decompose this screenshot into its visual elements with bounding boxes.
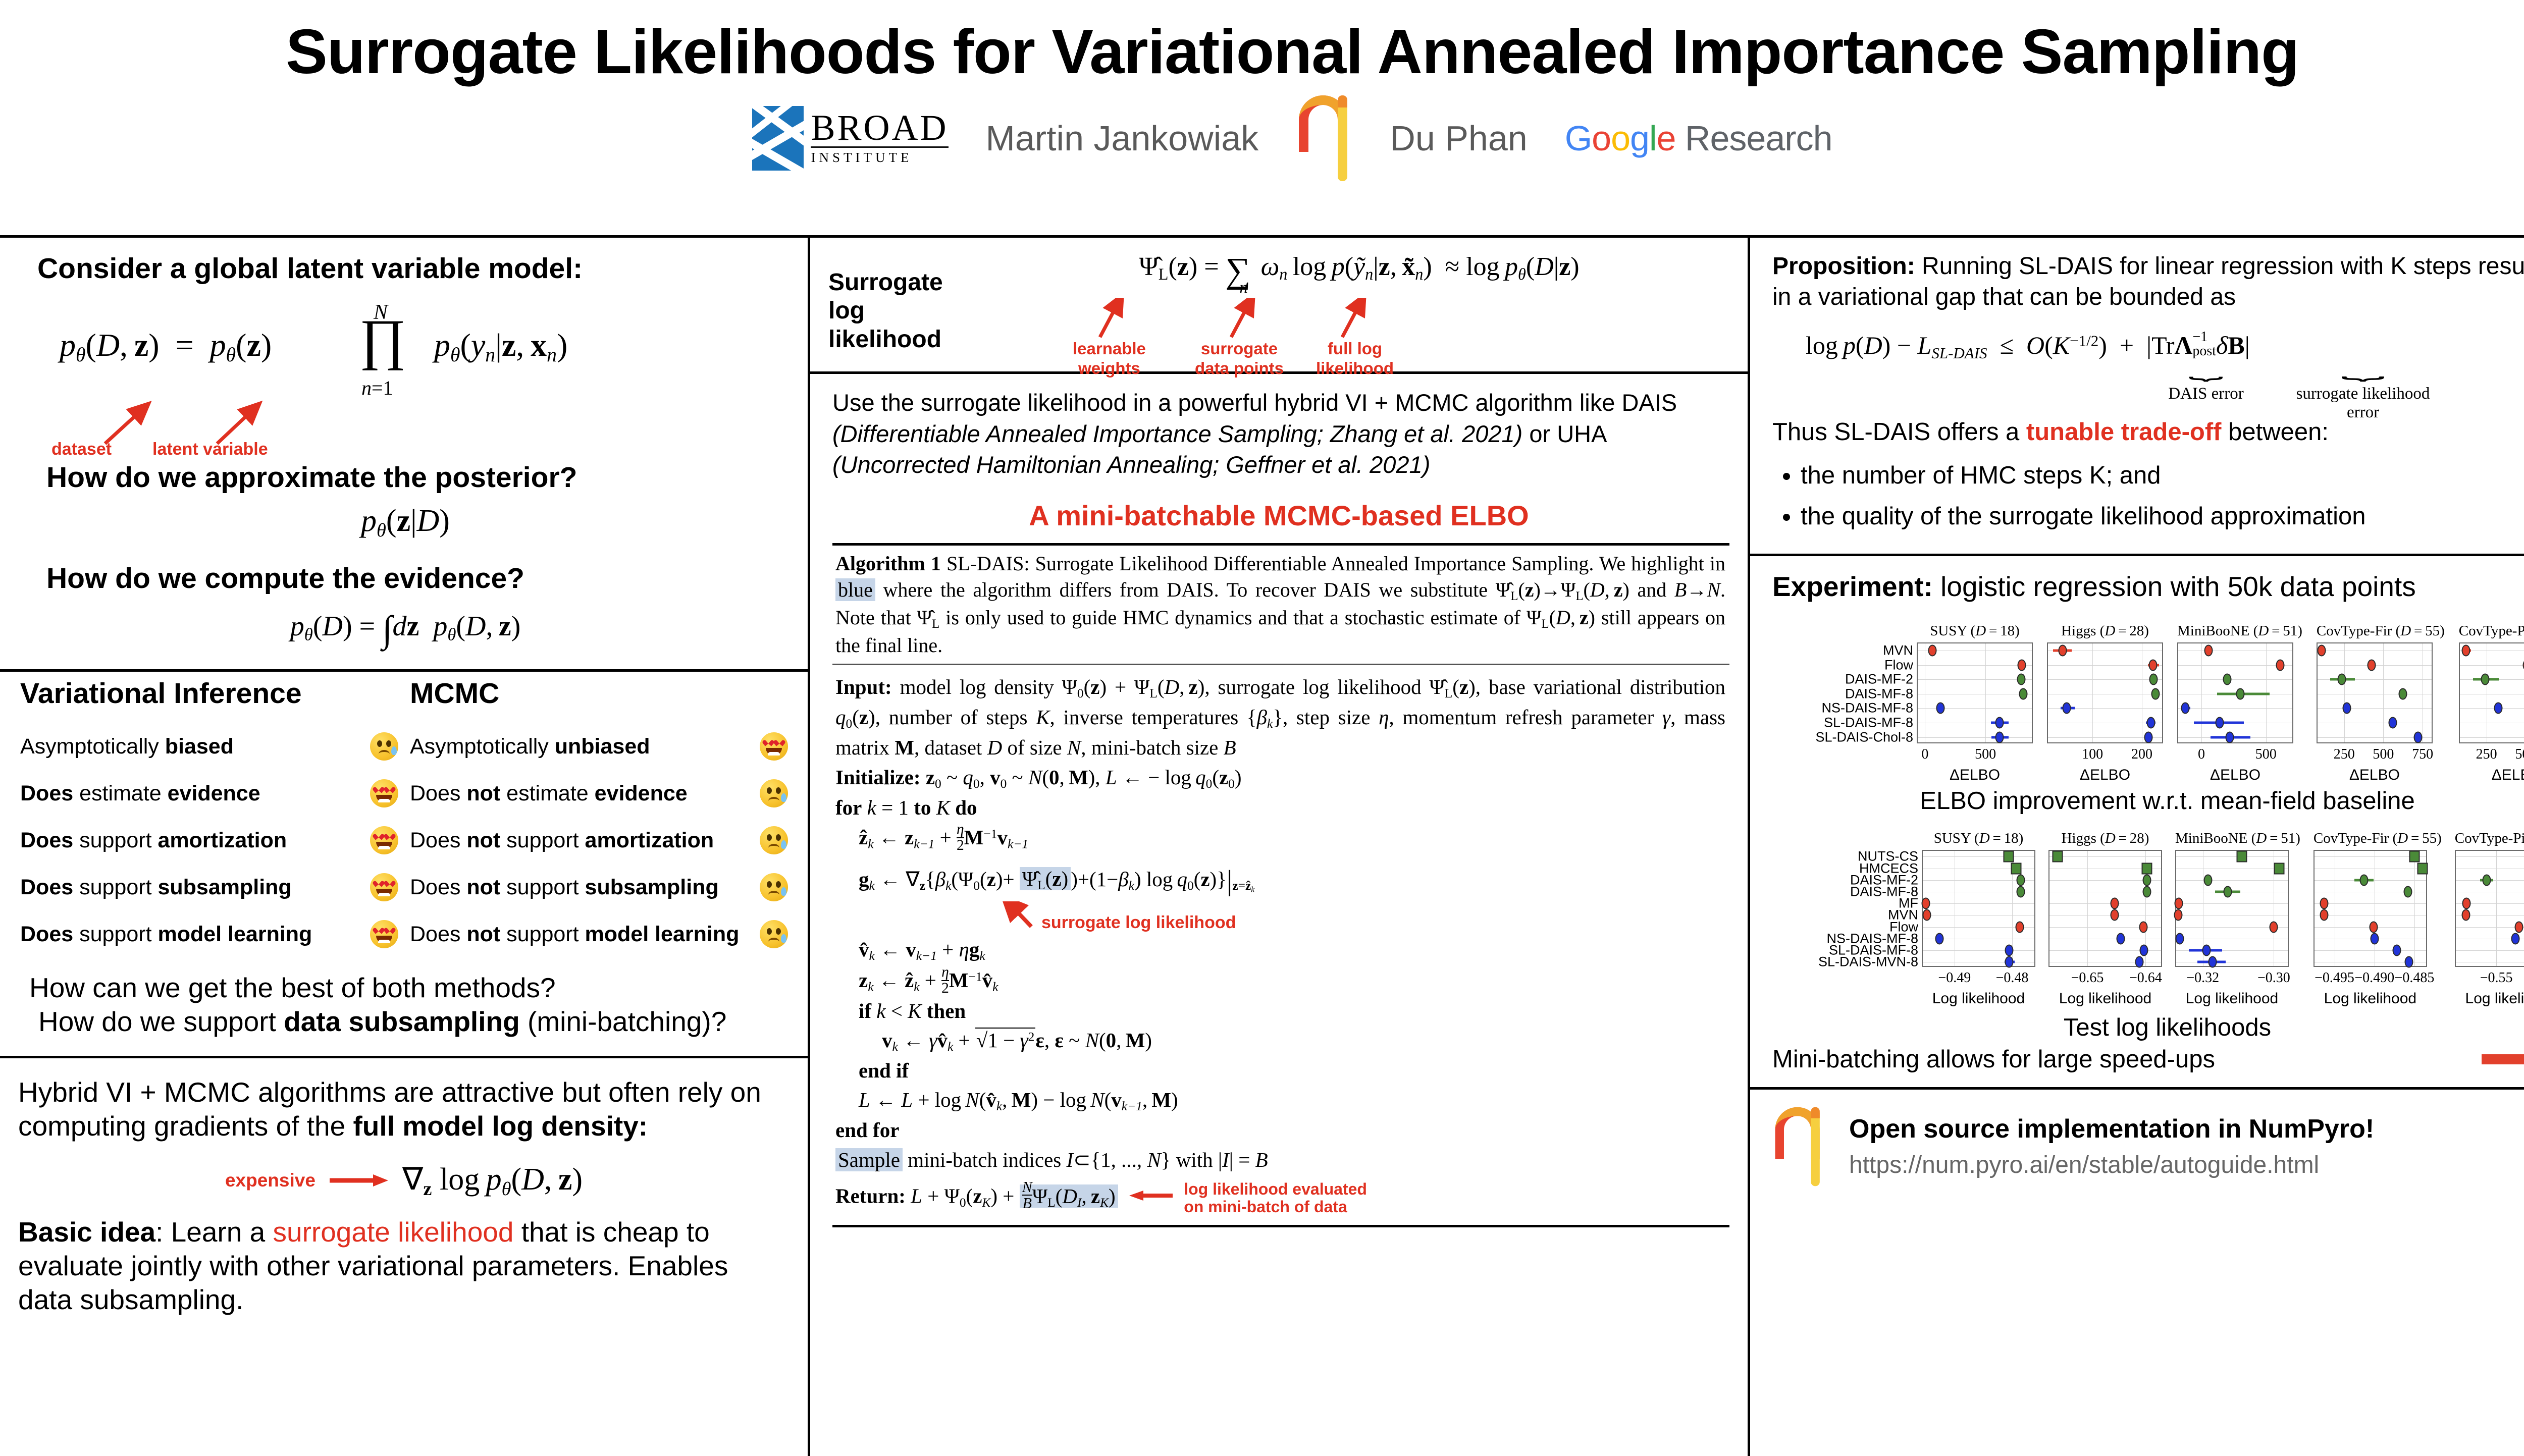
- numpyro-title: Open source implementation in NumPyro!: [1849, 1114, 2374, 1144]
- vi-row-label: Does estimate evidence: [20, 781, 365, 806]
- basic-idea-paragraph: Basic idea: Learn a surrogate likelihood…: [0, 1200, 808, 1317]
- column-middle: Surrogate log likelihood Ψ̂L(z) = ∑n ωn …: [808, 238, 1748, 1456]
- chart-dot-marker: [2135, 956, 2143, 968]
- caption-test-log-likelihoods: Test log likelihoods: [1750, 1013, 2524, 1042]
- chart-x-axis-label: ΔELBO: [2460, 767, 2524, 784]
- chart-gridline-h: [2048, 694, 2162, 694]
- algo-line-if: if k < K then: [835, 996, 1725, 1026]
- heart-eyes-face-icon: [365, 779, 403, 807]
- tradeoff-bullet-2: the quality of the surrogate likelihood …: [1801, 498, 2524, 535]
- chart-panel: MiniBooNE (D = 51)0500ΔELBO: [2177, 623, 2302, 743]
- chart-x-tick-label: 500: [2373, 746, 2394, 763]
- chart-dot-marker: [2176, 933, 2184, 944]
- chart-dot-marker: [2059, 645, 2067, 657]
- chart-panel: CovType-Pine (D = 55)−0.55−0.54Log likel…: [2455, 830, 2524, 967]
- vi-column: Variational Inference Asymptotically bia…: [20, 677, 403, 958]
- chart-gridline-h: [2315, 915, 2426, 915]
- algo-line-z: zk ← ẑk + η2M−1v̂k: [835, 965, 1725, 996]
- chart-dot-marker: [2111, 898, 2119, 909]
- chart-panel-title: MiniBooNE (D = 51): [2177, 623, 2302, 639]
- chart-square-marker: [2417, 862, 2428, 874]
- chart-y-tick-label: Flow: [1884, 657, 1913, 673]
- chart-gridline-h: [2456, 856, 2524, 857]
- return-annotation-arrow: [1128, 1190, 1174, 1201]
- chart-gridline-h: [2176, 856, 2288, 857]
- chart-dot-marker: [2202, 945, 2211, 956]
- annotation-surrogate-data-points: surrogate data points: [1195, 339, 1284, 378]
- chart-dot-marker: [2139, 921, 2147, 933]
- mcmc-row: Does not estimate evidence: [410, 770, 793, 817]
- chart-x-tick-label: −0.490: [2354, 970, 2394, 986]
- annotation-minibatch-likelihood: log likelihood evaluated on mini-batch o…: [1184, 1180, 1367, 1216]
- proposition-paragraph: Proposition: Running SL-DAIS for linear …: [1772, 251, 2524, 313]
- chart-dot-marker: [2320, 909, 2328, 921]
- chart-dot-marker: [2393, 945, 2401, 956]
- chart-y-tick-label: SL-DAIS-MF-8: [1824, 715, 1913, 731]
- google-letter-o2: o: [1611, 119, 1630, 158]
- sad-face-icon: [755, 826, 793, 854]
- sad-face-icon: [365, 732, 403, 761]
- chart-gridline-h: [2460, 737, 2524, 738]
- algo-line-zhat: ẑk ← zk−1 + η2M−1vk−1: [835, 822, 1725, 853]
- chart-panel-title: CovType-Pine (D = 55): [2459, 623, 2524, 639]
- vi-row: Does support model learning: [20, 911, 403, 958]
- chart-panel: CovType-Pine (D = 55)250500750ΔELBO: [2459, 623, 2524, 743]
- sad-face-icon: [755, 779, 793, 807]
- chart-plot-area: −0.65−0.64Log likelihood: [2048, 850, 2162, 967]
- chart-square-marker: [2141, 862, 2152, 874]
- surrogate-ll-label: Surrogate log likelihood: [828, 268, 980, 354]
- mcmc-row: Does not support subsampling: [410, 864, 793, 911]
- column-right: Proposition: Running SL-DAIS for linear …: [1748, 238, 2524, 1456]
- chart-gridline-h: [2048, 723, 2162, 723]
- chart-dot-marker: [2019, 688, 2027, 699]
- chart-dot-marker: [2515, 921, 2523, 933]
- numpyro-footer: Open source implementation in NumPyro! h…: [1750, 1090, 2524, 1190]
- chart-panel-title: MiniBooNE (D = 51): [2175, 830, 2300, 847]
- use-surrogate-paragraph: Use the surrogate likelihood in a powerf…: [810, 374, 1748, 479]
- chart-dot-marker: [2149, 659, 2158, 671]
- chart-dot-marker: [2017, 674, 2025, 685]
- divider-left-1: [0, 669, 808, 672]
- chart-dot-marker: [2368, 659, 2376, 671]
- pyro-logo-footer-icon: [1772, 1107, 1824, 1186]
- algo-line-sample: Sample mini-batch indices I⊂{1, ..., N} …: [835, 1145, 1725, 1174]
- question-best-of-both: How can we get the best of both methods?: [29, 971, 787, 1005]
- annotation-dataset: dataset: [51, 440, 112, 459]
- chart-panel-title: CovType-Fir (D = 55): [2313, 830, 2442, 847]
- chart-gridline-h: [2315, 869, 2426, 869]
- chart-dot-marker: [2146, 717, 2155, 729]
- chart-gridline-v: [2087, 851, 2088, 966]
- chart-x-tick-label: 200: [2131, 746, 2152, 763]
- chart-dot-marker: [1935, 933, 1944, 944]
- chart-gridline-h: [2456, 869, 2524, 869]
- chart-gridline-h: [2456, 892, 2524, 892]
- algo-line-input: Input: model log density Ψ0(z) + ΨL(D, z…: [835, 672, 1725, 763]
- left-annotations-group: dataset latent variable: [20, 406, 791, 459]
- chart-dot-marker: [2174, 898, 2183, 909]
- chart-gridline-h: [2178, 679, 2292, 680]
- chart-plot-area: NUTS-CSHMCECSDAIS-MF-2DAIS-MF-8MFMVNFlow…: [1922, 850, 2035, 967]
- chart-panel-title: SUSY (D = 18): [1917, 623, 2033, 639]
- chart-x-tick-label: −0.495: [2315, 970, 2354, 986]
- chart-gridline-h: [2315, 950, 2426, 951]
- vi-row: Does estimate evidence: [20, 770, 403, 817]
- chart-dot-marker: [2223, 886, 2232, 898]
- vi-row-label: Does support amortization: [20, 828, 365, 853]
- heart-eyes-face-icon: [755, 732, 793, 761]
- caption-elbo-improvement: ELBO improvement w.r.t. mean-field basel…: [1750, 787, 2524, 815]
- mcmc-row-label: Does not support amortization: [410, 828, 755, 853]
- chart-dot-marker: [2481, 674, 2489, 685]
- algorithm-bottom-rule: [832, 1225, 1729, 1227]
- mcmc-row-label: Does not support subsampling: [410, 875, 755, 900]
- chart-dot-marker: [2005, 956, 2014, 968]
- chart-dot-marker: [2462, 898, 2471, 909]
- chart-gridline-v: [2375, 851, 2375, 966]
- vi-row: Asymptotically biased: [20, 723, 403, 770]
- chart-x-tick-label: 100: [2082, 746, 2103, 763]
- chart-gridline-h: [2178, 665, 2292, 666]
- chart-panel: SUSY (D = 18)NUTS-CSHMCECSDAIS-MF-2DAIS-…: [1922, 830, 2035, 967]
- tradeoff-bullets: the number of HMC steps K; and the quali…: [1772, 457, 2524, 535]
- sad-face-icon: [755, 920, 793, 948]
- chart-square-marker: [2004, 851, 2014, 862]
- question-subsampling: How do we support data subsampling (mini…: [29, 1005, 787, 1039]
- google-letter-g2: g: [1630, 119, 1649, 158]
- heart-eyes-face-icon: [365, 826, 403, 854]
- vi-row-label: Does support model learning: [20, 922, 365, 947]
- chart-dot-marker: [2223, 674, 2232, 685]
- chart-gridline-h: [1918, 737, 2032, 738]
- chart-x-tick-label: 250: [2476, 746, 2497, 763]
- chart-dot-marker: [2215, 717, 2224, 729]
- pyro-logo-icon: [1296, 95, 1352, 181]
- chart-gridline-v: [1985, 643, 1986, 742]
- chart-gridline-h: [2048, 679, 2162, 680]
- chart-dot-marker: [2404, 886, 2412, 898]
- algo-line-endif: end if: [835, 1056, 1725, 1085]
- chart-dot-marker: [2236, 688, 2244, 699]
- numpyro-url-link[interactable]: https://num.pyro.ai/en/stable/autoguide.…: [1849, 1151, 2374, 1179]
- speedup-text: Mini-batching allows for large speed-ups: [1772, 1045, 2475, 1073]
- algorithm-pseudocode: Input: model log density Ψ0(z) + ΨL(D, z…: [832, 670, 1729, 1221]
- algo-line-accumulate: L ← L + log N(v̂k, M) − log N(vk−1, M): [835, 1085, 1725, 1115]
- chart-dot-marker: [2462, 909, 2470, 921]
- chart-gridline-h: [1918, 723, 2032, 723]
- chart-gridline-h: [2315, 903, 2426, 904]
- algorithm-box: Algorithm 1 SL-DAIS: Surrogate Likelihoo…: [832, 543, 1729, 1228]
- chart-dot-marker: [2413, 731, 2422, 743]
- mcmc-row-label: Does not support model learning: [410, 922, 755, 947]
- equation-variational-gap: log p(D) − LSL-DAIS ≤ O(K−1/2) + |TrΛ−1p…: [1772, 330, 2524, 395]
- chart-dot-marker: [2389, 717, 2397, 729]
- chart-square-marker: [2237, 851, 2247, 862]
- chart-dot-marker: [2151, 688, 2160, 699]
- chart-gridline-h: [1918, 679, 2032, 680]
- tradeoff-bullet-1: the number of HMC steps K; and: [1801, 457, 2524, 495]
- chart-gridline-h: [1918, 665, 2032, 666]
- chart-gridline-h: [2456, 950, 2524, 951]
- google-letter-o1: o: [1592, 119, 1611, 158]
- chart-dot-marker: [2063, 703, 2071, 714]
- chart-dot-marker: [2005, 945, 2014, 956]
- chart-plot-area: 250500750ΔELBO: [2459, 642, 2524, 743]
- chart-gridline-h: [2176, 939, 2288, 939]
- mcmc-heading: MCMC: [410, 677, 793, 710]
- chart-x-tick-label: −0.49: [1938, 970, 1971, 986]
- chart-dot-marker: [2338, 674, 2346, 685]
- chart-square-marker: [2409, 851, 2420, 862]
- chart-gridline-v: [2142, 643, 2142, 742]
- speedup-arrow-icon: [2482, 1045, 2524, 1074]
- chart-gridline-h: [1918, 708, 2032, 709]
- chart-x-tick-label: −0.48: [1996, 970, 2029, 986]
- chart-x-tick-label: 500: [2255, 746, 2277, 763]
- chart-dot-marker: [2226, 731, 2234, 743]
- vi-row-label: Asymptotically biased: [20, 734, 365, 759]
- chart-dot-marker: [2204, 645, 2213, 657]
- chart-x-axis-label: Log likelihood: [2176, 990, 2288, 1007]
- algo-annotation-surrogate: surrogate log likelihood: [835, 901, 1725, 935]
- chart-gridline-v: [2496, 851, 2497, 966]
- chart-gridline-h: [2049, 915, 2161, 915]
- chart-dot-marker: [2142, 874, 2151, 886]
- chart-dot-marker: [1995, 717, 2004, 729]
- chart-gridline-h: [2178, 651, 2292, 651]
- chart-gridline-h: [2318, 651, 2432, 651]
- google-letter-l: l: [1649, 119, 1657, 158]
- chart-gridline-h: [2176, 903, 2288, 904]
- chart-panel-title: CovType-Pine (D = 55): [2455, 830, 2524, 847]
- mcmc-row-label: Does not estimate evidence: [410, 781, 755, 806]
- chart-plot-area: −0.495−0.490−0.485Log likelihood: [2313, 850, 2427, 967]
- page-title: Surrogate Likelihoods for Variational An…: [0, 0, 2524, 85]
- algorithm-caption: Algorithm 1 SL-DAIS: Surrogate Likelihoo…: [832, 546, 1729, 659]
- chart-panel: Higgs (D = 28)−0.65−0.64Log likelihood: [2048, 830, 2162, 967]
- chart-dot-marker: [2370, 921, 2378, 933]
- chart-square-marker: [2274, 862, 2284, 874]
- chart-plot-area: 100200ΔELBO: [2047, 642, 2163, 743]
- chart-panel: MiniBooNE (D = 51)−0.32−0.30Log likeliho…: [2175, 830, 2300, 967]
- poster-columns: Consider a global latent variable model:…: [0, 235, 2524, 1453]
- chart-x-tick-label: −0.64: [2129, 970, 2162, 986]
- annotation-learnable-weights: learnable weights: [1073, 339, 1146, 378]
- chart-gridline-h: [2176, 962, 2288, 962]
- chart-gridline-h: [2049, 903, 2161, 904]
- chart-panel-title: Higgs (D = 28): [2047, 623, 2163, 639]
- equation-surrogate-ll: Ψ̂L(z) = ∑n ωn log p(ỹn|z, x̃n) ≈ log p…: [989, 251, 1729, 297]
- algorithm-rule: [832, 664, 1729, 665]
- tradeoff-heading: Thus SL-DAIS offers a tunable trade-off …: [1772, 418, 2524, 446]
- chart-x-axis-label: ΔELBO: [2048, 767, 2162, 784]
- chart-gridline-h: [2049, 856, 2161, 857]
- chart-x-tick-label: −0.65: [2071, 970, 2104, 986]
- annotation-expensive: expensive: [225, 1170, 315, 1191]
- chart-x-tick-label: −0.32: [2186, 970, 2219, 986]
- chart-dot-marker: [2174, 909, 2182, 921]
- equation-posterior: pθ(z|D): [20, 503, 791, 542]
- chart-gridline-h: [2318, 723, 2432, 723]
- chart-panel: Higgs (D = 28)100200ΔELBO: [2047, 623, 2163, 743]
- chart-dot-marker: [1922, 909, 1931, 921]
- chart-dot-marker: [1936, 703, 1945, 714]
- heart-eyes-face-icon: [365, 920, 403, 948]
- chart-plot-area: −0.55−0.54Log likelihood: [2455, 850, 2524, 967]
- mcmc-row-label: Asymptotically unbiased: [410, 734, 755, 759]
- annotation-surrogate-log-likelihood: surrogate log likelihood: [1041, 910, 1236, 935]
- chart-gridline-v: [2335, 851, 2335, 966]
- chart-dot-marker: [2204, 874, 2213, 886]
- chart-gridline-v: [2414, 851, 2415, 966]
- algo-line-endfor: end for: [835, 1115, 1725, 1145]
- chart-gridline-h: [2176, 880, 2288, 881]
- left-heading-evidence: How do we compute the evidence?: [20, 562, 791, 595]
- broad-mark-icon: [752, 106, 804, 171]
- chart-x-tick-label: −0.55: [2480, 970, 2513, 986]
- algo-line-vhat: v̂k ← vk−1 + ηgk: [835, 935, 1725, 965]
- vi-row: Does support subsampling: [20, 864, 403, 911]
- chart-gridline-h: [1923, 950, 2034, 951]
- chart-x-tick-label: 500: [2515, 746, 2524, 763]
- mcmc-row: Asymptotically unbiased: [410, 723, 793, 770]
- algo-line-for: for k = 1 to K do: [835, 793, 1725, 822]
- vi-row: Does support amortization: [20, 817, 403, 864]
- chart-gridline-v: [1925, 643, 1925, 742]
- chart-dot-marker: [2494, 703, 2502, 714]
- chart-panel-title: CovType-Fir (D = 55): [2317, 623, 2445, 639]
- chart-dot-marker: [2360, 874, 2369, 886]
- chart-dot-marker: [2317, 645, 2326, 657]
- annotation-latent-variable: latent variable: [152, 440, 268, 459]
- chart-x-axis-label: Log likelihood: [2315, 990, 2426, 1007]
- chart-y-tick-label: MVN: [1883, 643, 1913, 659]
- vi-heading: Variational Inference: [20, 677, 403, 710]
- chart-plot-area: MVNFlowDAIS-MF-2DAIS-MF-8NS-DAIS-MF-8SL-…: [1917, 642, 2033, 743]
- chart-gridline-h: [1923, 903, 2034, 904]
- chart-dot-marker: [2511, 933, 2519, 944]
- left-heading-posterior: How do we approximate the posterior?: [20, 461, 791, 494]
- chart-x-tick-label: 0: [1921, 746, 1928, 763]
- chart-square-marker: [2011, 862, 2022, 874]
- chart-dot-marker: [2139, 945, 2148, 956]
- annotation-arrow-expensive: [329, 1173, 389, 1188]
- equation-joint-density: pθ(D, z) = pθ(z) N ∏ n=1 pθ(yn|z, xn): [20, 300, 791, 406]
- chart-dot-marker: [2144, 731, 2152, 743]
- chart-gridline-v: [2423, 643, 2423, 742]
- chart-dot-marker: [2461, 645, 2470, 657]
- algo-line-grad: gk ← ∇z{βk(Ψ0(z)+ Ψ̂L(z))+(1−βk) log q0(…: [835, 860, 1725, 902]
- chart-dot-marker: [2276, 659, 2284, 671]
- chart-y-tick-label: SL-DAIS-MVN-8: [1818, 954, 1918, 970]
- chart-square-marker: [2053, 851, 2063, 862]
- chart-dot-marker: [1921, 898, 1930, 909]
- chart-gridline-v: [2383, 643, 2384, 742]
- chart-panel: CovType-Fir (D = 55)−0.495−0.490−0.485Lo…: [2313, 830, 2442, 967]
- chart-gridline-v: [2344, 643, 2345, 742]
- broad-wordmark: BROAD: [811, 111, 948, 144]
- chart-x-axis-label: Log likelihood: [1923, 990, 2034, 1007]
- chart-panel: CovType-Fir (D = 55)250500750ΔELBO: [2317, 623, 2445, 743]
- mcmc-row: Does not support model learning: [410, 911, 793, 958]
- chart-dot-marker: [2270, 921, 2278, 933]
- vi-mcmc-comparison: Variational Inference Asymptotically bia…: [0, 677, 808, 958]
- chart-dot-marker: [2399, 688, 2407, 699]
- chart-gridline-v: [2092, 643, 2093, 742]
- chart-x-tick-label: 250: [2334, 746, 2355, 763]
- chart-dot-marker: [2111, 909, 2119, 921]
- chart-gridline-h: [2178, 708, 2292, 709]
- brace-surrogate-error: ⏟ surrogate likelihood error: [2287, 362, 2439, 422]
- author-affiliation-bar: BROAD INSTITUTE Martin Jankowiak Du Phan…: [0, 103, 2524, 174]
- chart-gridline-h: [2049, 962, 2161, 962]
- left-questions: How can we get the best of both methods?…: [0, 958, 808, 1039]
- equation-grad-log-density: ∇z log pθ(D, z): [402, 1160, 583, 1200]
- chart-gridline-h: [1923, 962, 2034, 962]
- surrogate-annotations: learnable weights surrogate data points …: [989, 297, 1729, 371]
- chart-gridline-h: [1918, 694, 2032, 694]
- chart-gridline-h: [2049, 939, 2161, 939]
- chart-dot-marker: [2181, 703, 2190, 714]
- chart-x-tick-label: −0.485: [2395, 970, 2435, 986]
- chart-dot-marker: [2404, 956, 2413, 968]
- chart-gridline-h: [2456, 927, 2524, 928]
- mid-banner-elbo: A mini-batchable MCMC-based ELBO: [810, 499, 1748, 532]
- chart-dot-marker: [2208, 956, 2217, 968]
- chart-row-test-ll: SUSY (D = 18)NUTS-CSHMCECSDAIS-MF-2DAIS-…: [1750, 830, 2524, 967]
- chart-gridline-v: [1955, 851, 1955, 966]
- google-research-word: Research: [1675, 119, 1832, 158]
- chart-gridline-h: [1923, 915, 2034, 915]
- chart-dot-marker: [2116, 933, 2125, 944]
- chart-gridline-h: [2048, 665, 2162, 666]
- chart-gridline-v: [2487, 643, 2487, 742]
- vi-rows: Asymptotically biasedDoes estimate evide…: [20, 723, 403, 958]
- broad-subwordmark: INSTITUTE: [811, 146, 948, 166]
- chart-panel-title: Higgs (D = 28): [2048, 830, 2162, 847]
- left-heading-model: Consider a global latent variable model:: [20, 252, 791, 285]
- chart-x-tick-label: 750: [2412, 746, 2433, 763]
- chart-y-tick-label: SL-DAIS-Chol-8: [1815, 729, 1913, 745]
- chart-gridline-h: [1923, 856, 2034, 857]
- algo-line-initialize: Initialize: z0 ~ q0, v0 ~ N(0, M), L ← −…: [835, 763, 1725, 793]
- google-letter-e: e: [1657, 119, 1676, 158]
- vi-row-label: Does support subsampling: [20, 875, 365, 900]
- chart-dot-marker: [2343, 703, 2351, 714]
- chart-y-tick-label: NS-DAIS-MF-8: [1822, 700, 1914, 716]
- chart-plot-area: 250500750ΔELBO: [2317, 642, 2433, 743]
- mcmc-row: Does not support amortization: [410, 817, 793, 864]
- chart-dot-marker: [2018, 659, 2026, 671]
- chart-gridline-h: [2460, 665, 2524, 666]
- surrogate-ll-block: Surrogate log likelihood Ψ̂L(z) = ∑n ωn …: [828, 251, 1729, 371]
- chart-gridline-h: [2318, 708, 2432, 709]
- chart-dot-marker: [2017, 874, 2025, 886]
- chart-dot-marker: [2149, 674, 2158, 685]
- heart-eyes-face-icon: [365, 873, 403, 901]
- chart-x-axis-label: ΔELBO: [2318, 767, 2432, 784]
- chart-dot-marker: [2142, 886, 2151, 898]
- chart-dot-marker: [2482, 874, 2491, 886]
- chart-panel: SUSY (D = 18)MVNFlowDAIS-MF-2DAIS-MF-8NS…: [1917, 623, 2033, 743]
- expensive-gradient-row: expensive ∇z log pθ(D, z): [0, 1160, 808, 1200]
- chart-gridline-v: [2201, 643, 2202, 742]
- google-letter-g1: G: [1565, 119, 1592, 158]
- chart-plot-area: −0.32−0.30Log likelihood: [2175, 850, 2289, 967]
- mcmc-column: MCMC Asymptotically unbiasedDoes not est…: [403, 677, 793, 958]
- chart-row-elbo: SUSY (D = 18)MVNFlowDAIS-MF-2DAIS-MF-8NS…: [1750, 623, 2524, 743]
